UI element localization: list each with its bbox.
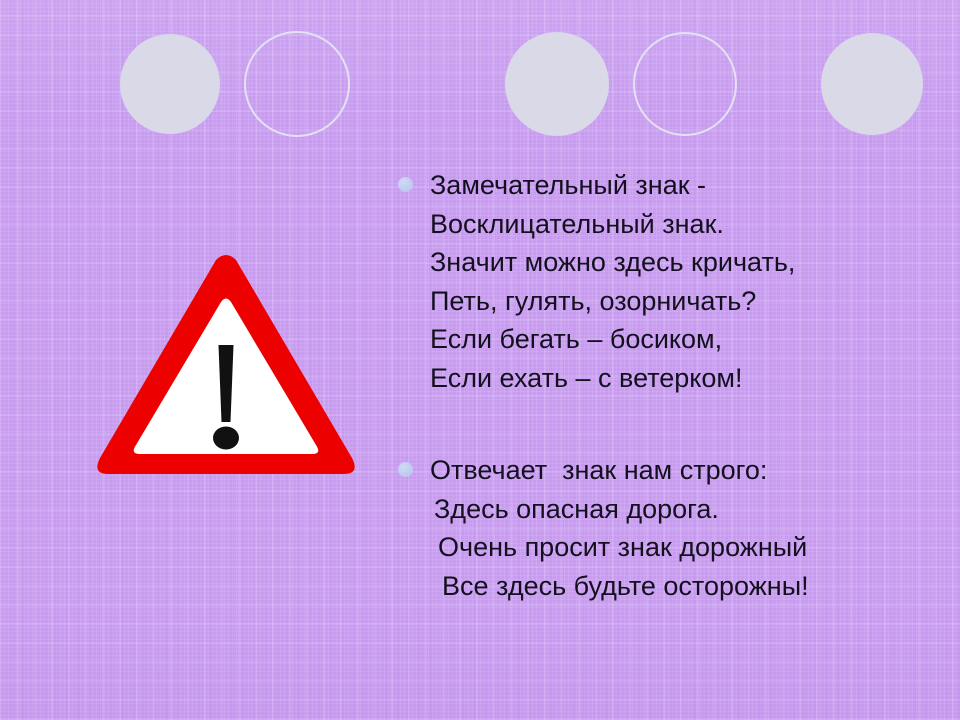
poem-line: Замечательный знак - bbox=[396, 166, 956, 205]
stanza-2: Отвечает знак нам строго: Здесь опасная … bbox=[396, 451, 956, 605]
poem-text-area: Замечательный знак - Восклицательный зна… bbox=[396, 166, 956, 605]
stanza-1: Замечательный знак - Восклицательный зна… bbox=[396, 166, 956, 397]
stanza-1-lines: Замечательный знак - Восклицательный зна… bbox=[396, 166, 956, 397]
poem-line: Петь, гулять, озорничать? bbox=[396, 282, 956, 321]
decor-circle-1-filled bbox=[120, 34, 220, 134]
slide: Замечательный знак - Восклицательный зна… bbox=[0, 0, 960, 720]
bullet-circle-icon bbox=[398, 462, 413, 477]
sign-exclamation-dot bbox=[213, 427, 239, 450]
decorative-circle-band bbox=[0, 0, 960, 170]
poem-line: Восклицательный знак. bbox=[396, 205, 956, 244]
decor-circle-3-filled bbox=[505, 32, 609, 136]
poem-line: Значит можно здесь кричать, bbox=[396, 243, 956, 282]
poem-line: Все здесь будьте осторожны! bbox=[396, 567, 956, 606]
poem-line: Если ехать – с ветерком! bbox=[396, 359, 956, 398]
poem-line: Очень просит знак дорожный bbox=[396, 528, 956, 567]
stanza-2-lines: Отвечает знак нам строго: Здесь опасная … bbox=[396, 451, 956, 605]
decor-circle-5-filled bbox=[821, 33, 923, 135]
bullet-circle-icon bbox=[398, 177, 413, 192]
poem-line: Здесь опасная дорога. bbox=[396, 490, 956, 529]
road-sign-graphic bbox=[88, 242, 368, 490]
decor-circle-2-outline bbox=[244, 31, 350, 137]
poem-line: Отвечает знак нам строго: bbox=[396, 451, 956, 490]
warning-exclamation-road-sign bbox=[88, 242, 368, 490]
poem-line: Если бегать – босиком, bbox=[396, 320, 956, 359]
decor-circle-4-outline bbox=[633, 32, 737, 136]
